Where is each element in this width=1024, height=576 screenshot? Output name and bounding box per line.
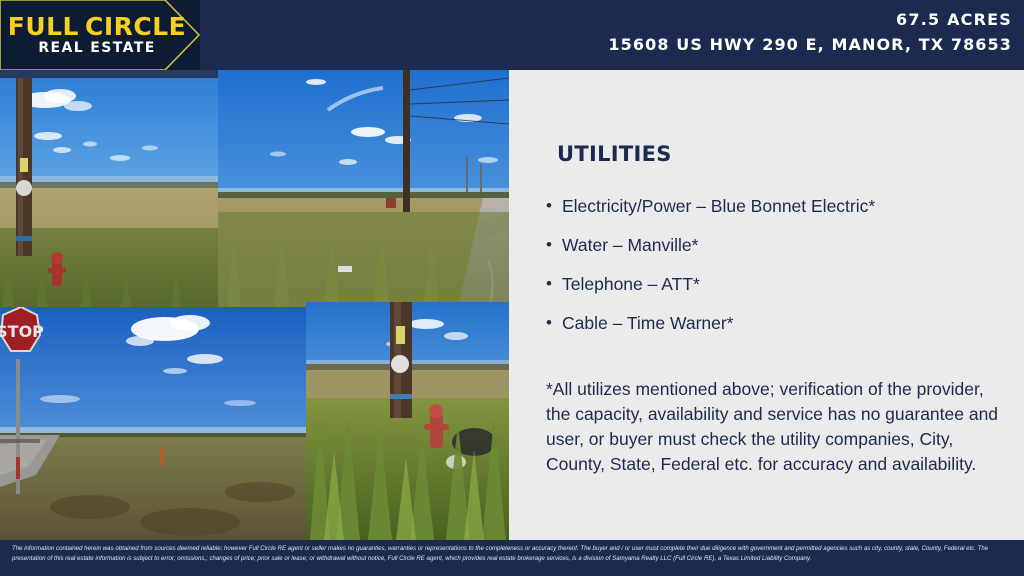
legal-disclaimer: The information contained herein was obt… bbox=[0, 540, 1024, 564]
page-title: UTILITIES bbox=[557, 144, 672, 165]
logo-word-full: FULL bbox=[8, 14, 79, 39]
bullet-icon: • bbox=[546, 274, 562, 294]
real-estate-slide: STOP bbox=[0, 0, 1024, 576]
photo-collage: STOP bbox=[0, 70, 509, 540]
property-address: 15608 US HWY 290 E, MANOR, TX 78653 bbox=[608, 32, 1012, 58]
property-heading: 67.5 ACRES 15608 US HWY 290 E, MANOR, TX… bbox=[608, 8, 1012, 58]
header-bar: FULL CIRCLE REAL ESTATE 67.5 ACRES 15608… bbox=[0, 0, 1024, 70]
list-item: • Telephone – ATT* bbox=[546, 274, 1016, 295]
utilities-panel: UTILITIES • Electricity/Power – Blue Bon… bbox=[509, 70, 1024, 540]
utility-water: Water – Manville* bbox=[562, 235, 1016, 256]
logo-wordmark: FULL CIRCLE bbox=[8, 13, 186, 39]
list-item: • Electricity/Power – Blue Bonnet Electr… bbox=[546, 196, 1016, 217]
utility-cable: Cable – Time Warner* bbox=[562, 313, 1016, 334]
photo-hydrant-in-grass bbox=[306, 302, 509, 540]
list-item: • Cable – Time Warner* bbox=[546, 313, 1016, 334]
utilities-list: • Electricity/Power – Blue Bonnet Electr… bbox=[546, 196, 1016, 352]
bullet-icon: • bbox=[546, 235, 562, 255]
acreage-label: 67.5 ACRES bbox=[608, 8, 1012, 32]
photo-roadside-field bbox=[218, 70, 509, 315]
utilities-note: *All utilizes mentioned above; verificat… bbox=[546, 377, 1006, 476]
utility-electricity: Electricity/Power – Blue Bonnet Electric… bbox=[562, 196, 1016, 217]
brand-logo[interactable]: FULL CIRCLE REAL ESTATE bbox=[0, 0, 200, 70]
bullet-icon: • bbox=[546, 196, 562, 216]
bullet-icon: • bbox=[546, 313, 562, 333]
list-item: • Water – Manville* bbox=[546, 235, 1016, 256]
svg-text:STOP: STOP bbox=[0, 322, 44, 341]
logo-word-circle: CIRCLE bbox=[85, 14, 186, 39]
utility-telephone: Telephone – ATT* bbox=[562, 274, 1016, 295]
footer-bar: The information contained herein was obt… bbox=[0, 540, 1024, 576]
photo-field-with-utility-pole bbox=[0, 78, 218, 313]
logo-subtitle: REAL ESTATE bbox=[8, 41, 186, 55]
photo-stop-sign-frontage: STOP bbox=[0, 307, 306, 540]
